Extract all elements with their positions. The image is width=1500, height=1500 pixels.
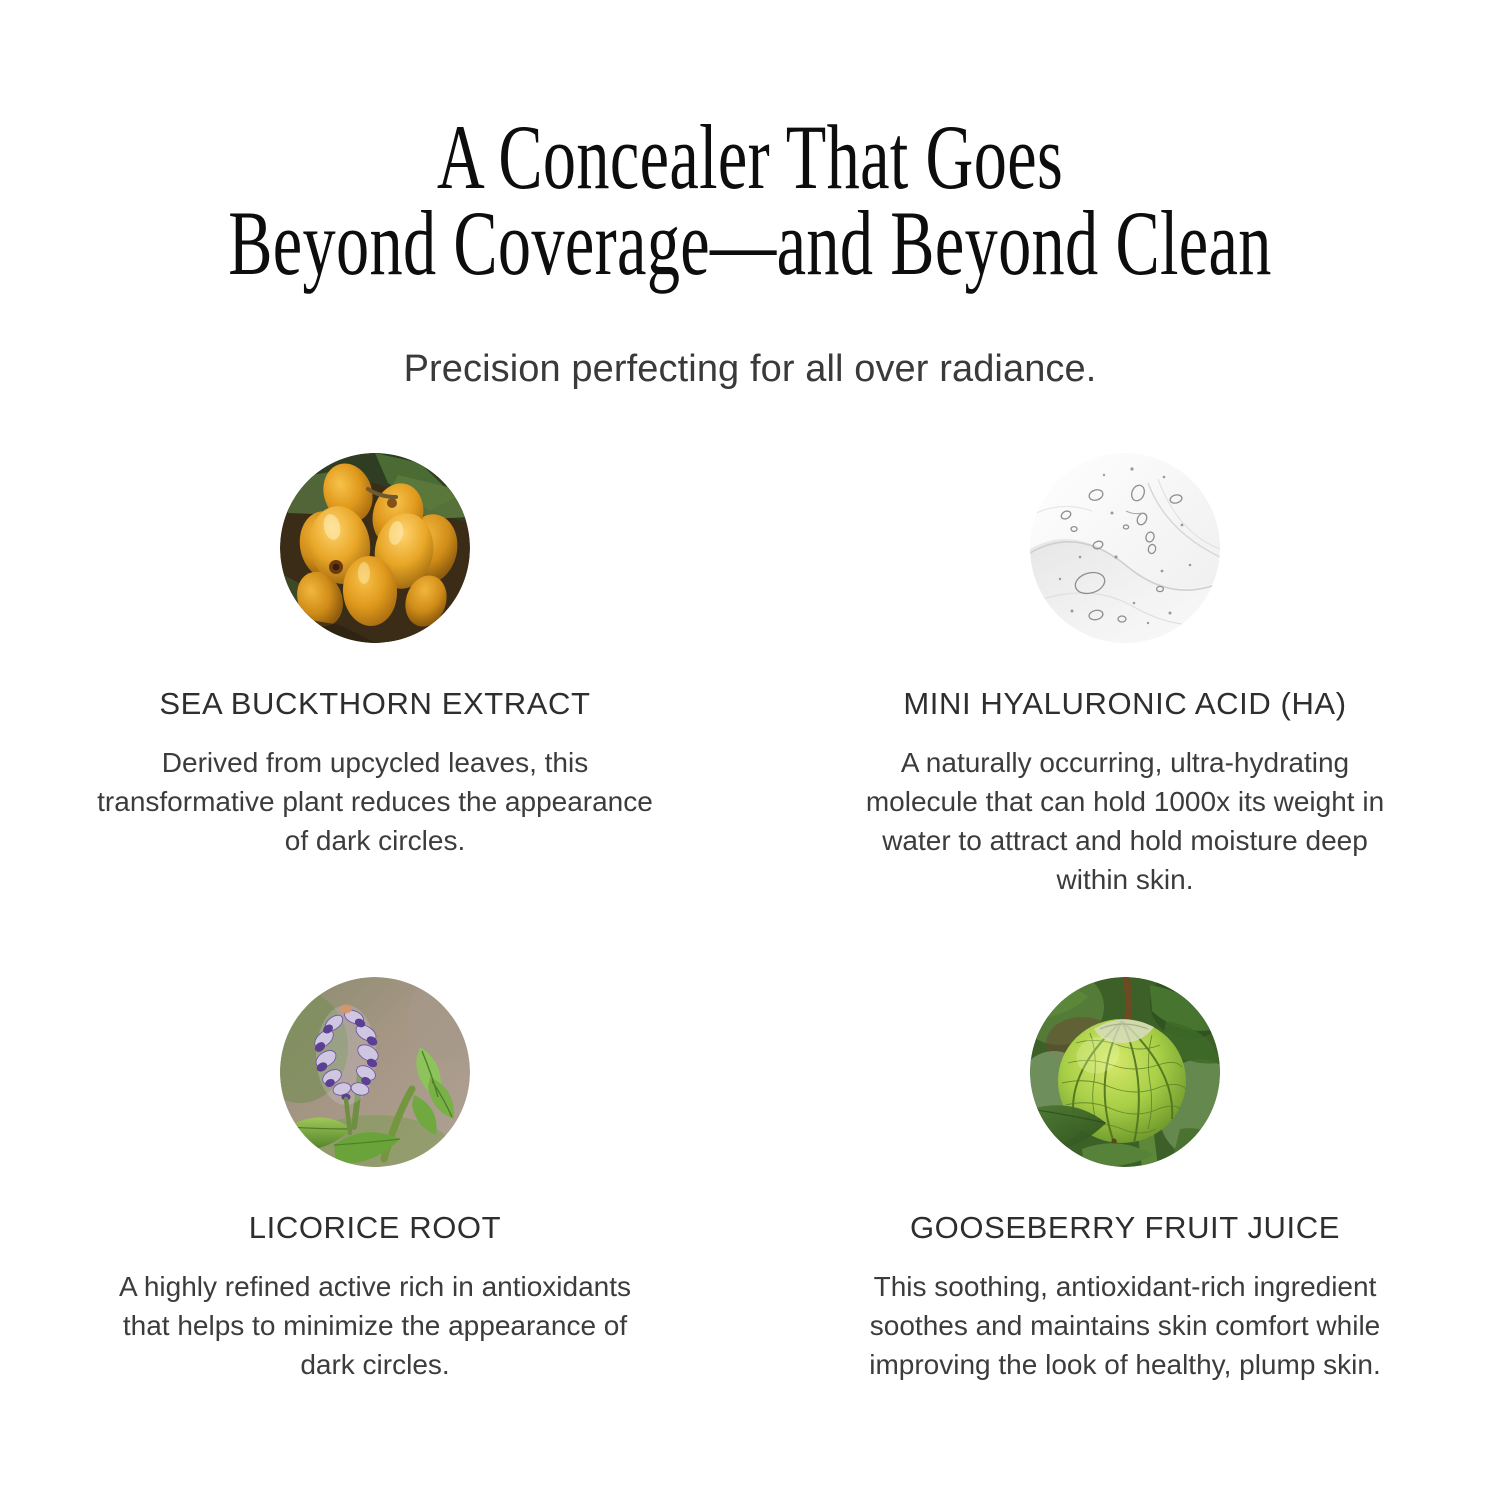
headline-line-1: A Concealer That Goes [210, 114, 1290, 200]
ingredient-title: MINI HYALURONIC ACID (HA) [903, 687, 1346, 721]
ingredient-card-gooseberry: GOOSEBERRY FRUIT JUICE This soothing, an… [750, 899, 1500, 1384]
headline-line-2: Beyond Coverage—and Beyond Clean [210, 200, 1290, 286]
page-title: A Concealer That Goes Beyond Coverage—an… [210, 114, 1290, 286]
page-subtitle: Precision perfecting for all over radian… [0, 347, 1500, 391]
licorice-root-flower-photo [280, 977, 470, 1167]
page-header: A Concealer That Goes Beyond Coverage—an… [0, 0, 1500, 391]
ingredient-title: SEA BUCKTHORN EXTRACT [159, 687, 590, 721]
ingredient-description: A highly refined active rich in antioxid… [95, 1267, 655, 1384]
ingredient-description: This soothing, antioxidant-rich ingredie… [825, 1267, 1425, 1384]
gooseberry-fruit-photo [1030, 977, 1220, 1167]
ingredient-grid: SEA BUCKTHORN EXTRACT Derived from upcyc… [0, 453, 1500, 1384]
ingredient-card-hyaluronic-acid: MINI HYALURONIC ACID (HA) A naturally oc… [750, 453, 1500, 899]
ingredient-title: GOOSEBERRY FRUIT JUICE [910, 1211, 1340, 1245]
ingredient-title: LICORICE ROOT [249, 1211, 501, 1245]
ingredient-description: Derived from upcycled leaves, this trans… [95, 743, 655, 860]
sea-buckthorn-berries-photo [280, 453, 470, 643]
ingredient-card-licorice-root: LICORICE ROOT A highly refined active ri… [0, 899, 750, 1384]
ingredient-card-sea-buckthorn: SEA BUCKTHORN EXTRACT Derived from upcyc… [0, 453, 750, 899]
ingredient-description: A naturally occurring, ultra-hydrating m… [845, 743, 1405, 899]
hyaluronic-acid-gel-photo [1030, 453, 1220, 643]
